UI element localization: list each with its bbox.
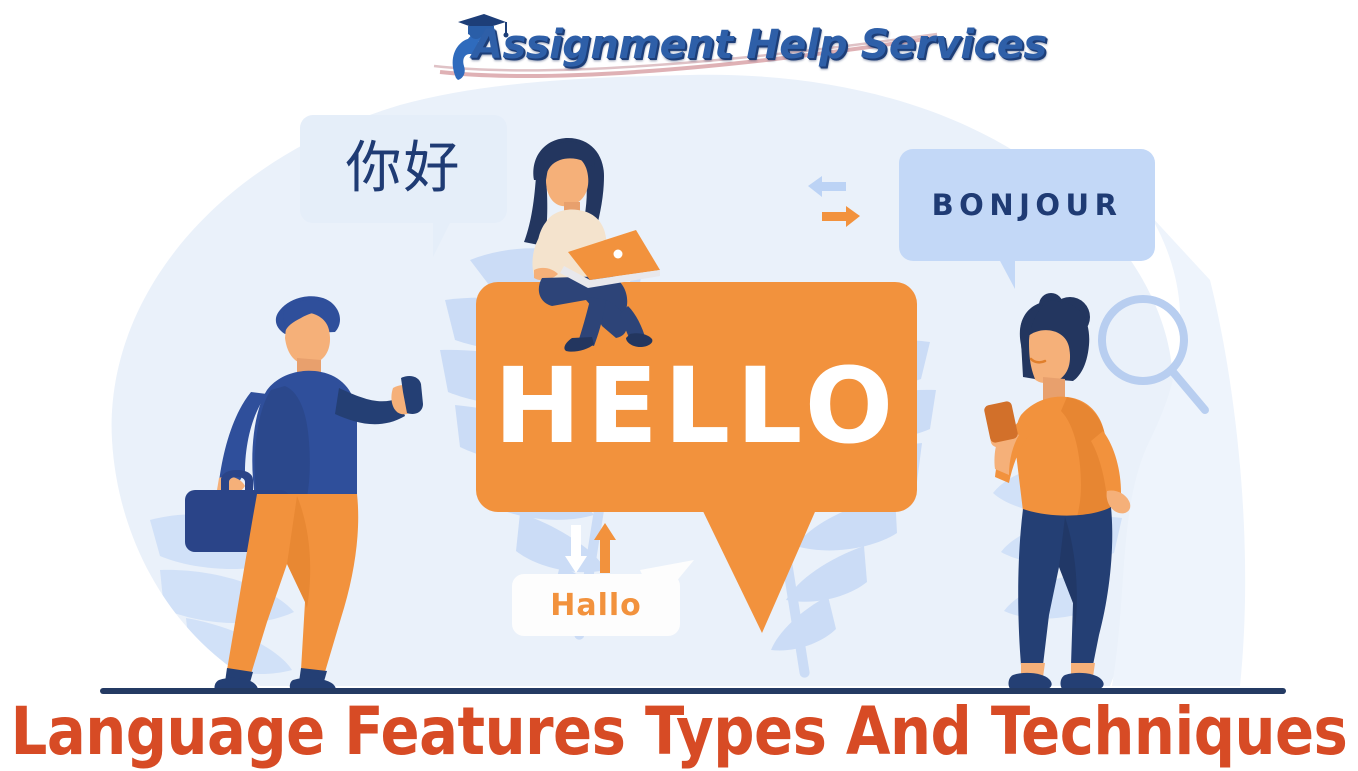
speech-bubble-nihao-body: 你好 [300,115,507,223]
site-logo-bar: Assignment Help Services [0,0,1358,92]
arrow-down-icon [565,525,587,573]
speech-bubble-nihao[interactable]: 你好 [300,115,507,223]
logo-text: Assignment Help Services [472,22,1047,68]
speech-bubble-hello-text: HELLO [494,354,899,458]
illustration-banner: Assignment Help Services 你好 BONJOUR [0,0,1358,771]
page-title: Language Features Types And Techniques [20,692,1337,771]
man-with-briefcase-illustration [175,282,425,694]
logo[interactable]: Assignment Help Services [432,8,952,86]
arrow-right-icon [822,206,860,227]
woman-with-phone-illustration [965,285,1165,695]
speech-bubble-hallo-text: Hallo [550,588,642,623]
speech-bubble-nihao-text: 你好 [346,141,462,197]
speech-bubble-bonjour-text: BONJOUR [932,188,1123,222]
speech-bubble-hello-tail [700,505,830,635]
exchange-arrows-vertical [562,523,622,575]
speech-bubble-nihao-tail [433,221,477,257]
exchange-arrows-horizontal [808,176,870,232]
arrow-left-icon [808,176,846,197]
speech-bubble-hallo-body: Hallo [512,574,680,636]
speech-bubble-bonjour-body: BONJOUR [899,149,1155,261]
speech-bubble-hallo[interactable]: Hallo [512,574,680,636]
arrow-up-icon [594,523,616,573]
woman-with-laptop-illustration [490,130,690,352]
speech-bubble-bonjour[interactable]: BONJOUR [899,149,1155,261]
